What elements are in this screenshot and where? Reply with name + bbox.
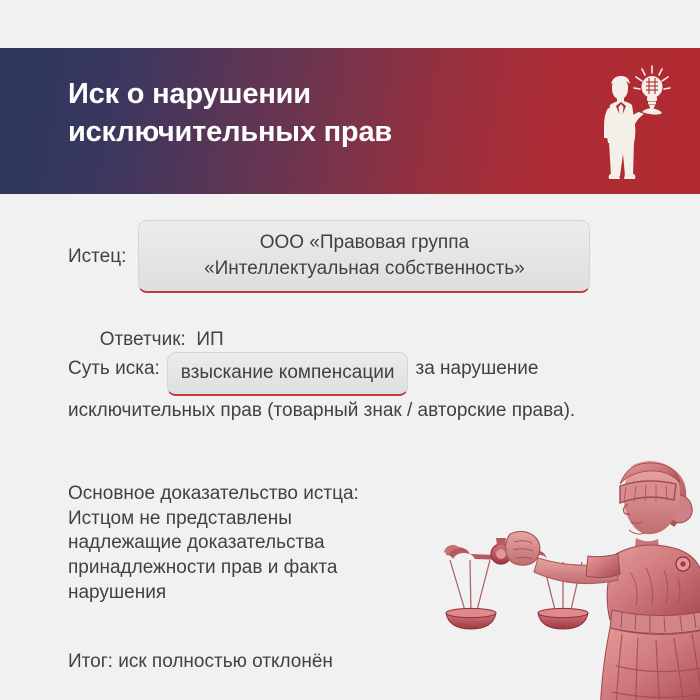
- evidence-paragraph: Основное доказательство истца: Истцом не…: [68, 482, 458, 605]
- defendant-label: Ответчик:: [100, 329, 186, 350]
- defendant-value: ИП: [196, 329, 223, 350]
- claimant-label: Истец:: [68, 246, 126, 268]
- claimant-row: Истец: ООО «Правовая группа «Интеллектуа…: [68, 220, 628, 293]
- claim-subject-highlight: взыскание компенсации: [167, 352, 409, 396]
- case-summary-body: Истец: ООО «Правовая группа «Интеллектуа…: [0, 194, 700, 700]
- claimant-value-highlight: ООО «Правовая группа «Интеллектуальная с…: [138, 220, 590, 293]
- page-title: Иск о нарушении исключительных прав: [68, 76, 538, 151]
- claim-subject-paragraph: Суть иска:взыскание компенсацииза наруше…: [68, 352, 668, 427]
- infographic-card: Иск о нарушении исключительных прав: [0, 0, 700, 700]
- outcome-paragraph: Итог: иск полностью отклонён: [68, 650, 528, 675]
- businessman-with-idea-lightbulb-icon: [580, 60, 676, 186]
- header-banner: Иск о нарушении исключительных прав: [0, 48, 700, 194]
- claim-subject-label: Суть иска:: [68, 358, 160, 379]
